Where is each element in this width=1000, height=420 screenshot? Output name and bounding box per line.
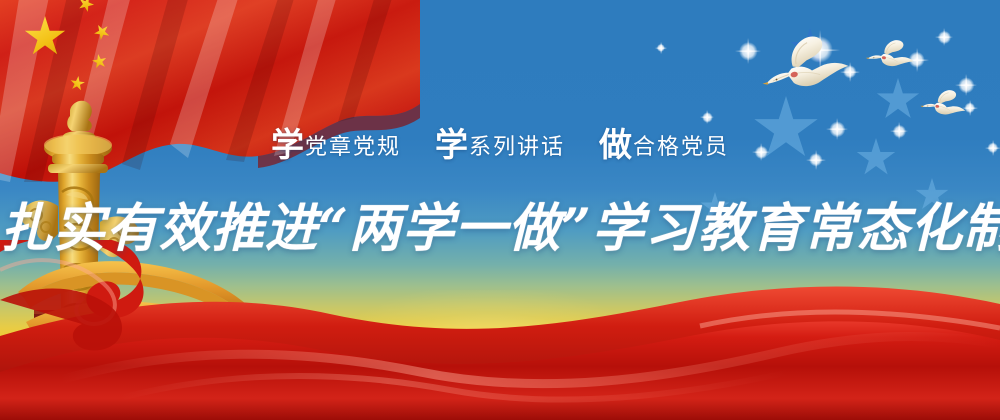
subtitle-rest-1: 系列讲话 xyxy=(469,135,565,160)
subtitle-lead-char-2: 做 xyxy=(599,125,633,164)
dove-mid-icon xyxy=(860,35,922,79)
subtitle-rest-2: 合格党员 xyxy=(633,135,729,160)
party-education-banner: 中华人民共和国万岁 xyxy=(0,0,1000,420)
flag-star-small xyxy=(69,75,86,92)
subtitle-lead-char-0: 学 xyxy=(271,125,305,164)
main-title: 扎实有效推进“两学一做”学习教育常态化制度化 xyxy=(0,186,1000,261)
subtitle-slogan: 学党章党规学系列讲话做合格党员 xyxy=(0,118,1000,166)
subtitle-lead-char-1: 学 xyxy=(435,125,469,164)
red-silk-ribbon xyxy=(0,240,1000,420)
flag-star-large xyxy=(24,16,66,58)
subtitle-rest-0: 党章党规 xyxy=(305,135,401,160)
dove-large-icon xyxy=(755,28,857,109)
